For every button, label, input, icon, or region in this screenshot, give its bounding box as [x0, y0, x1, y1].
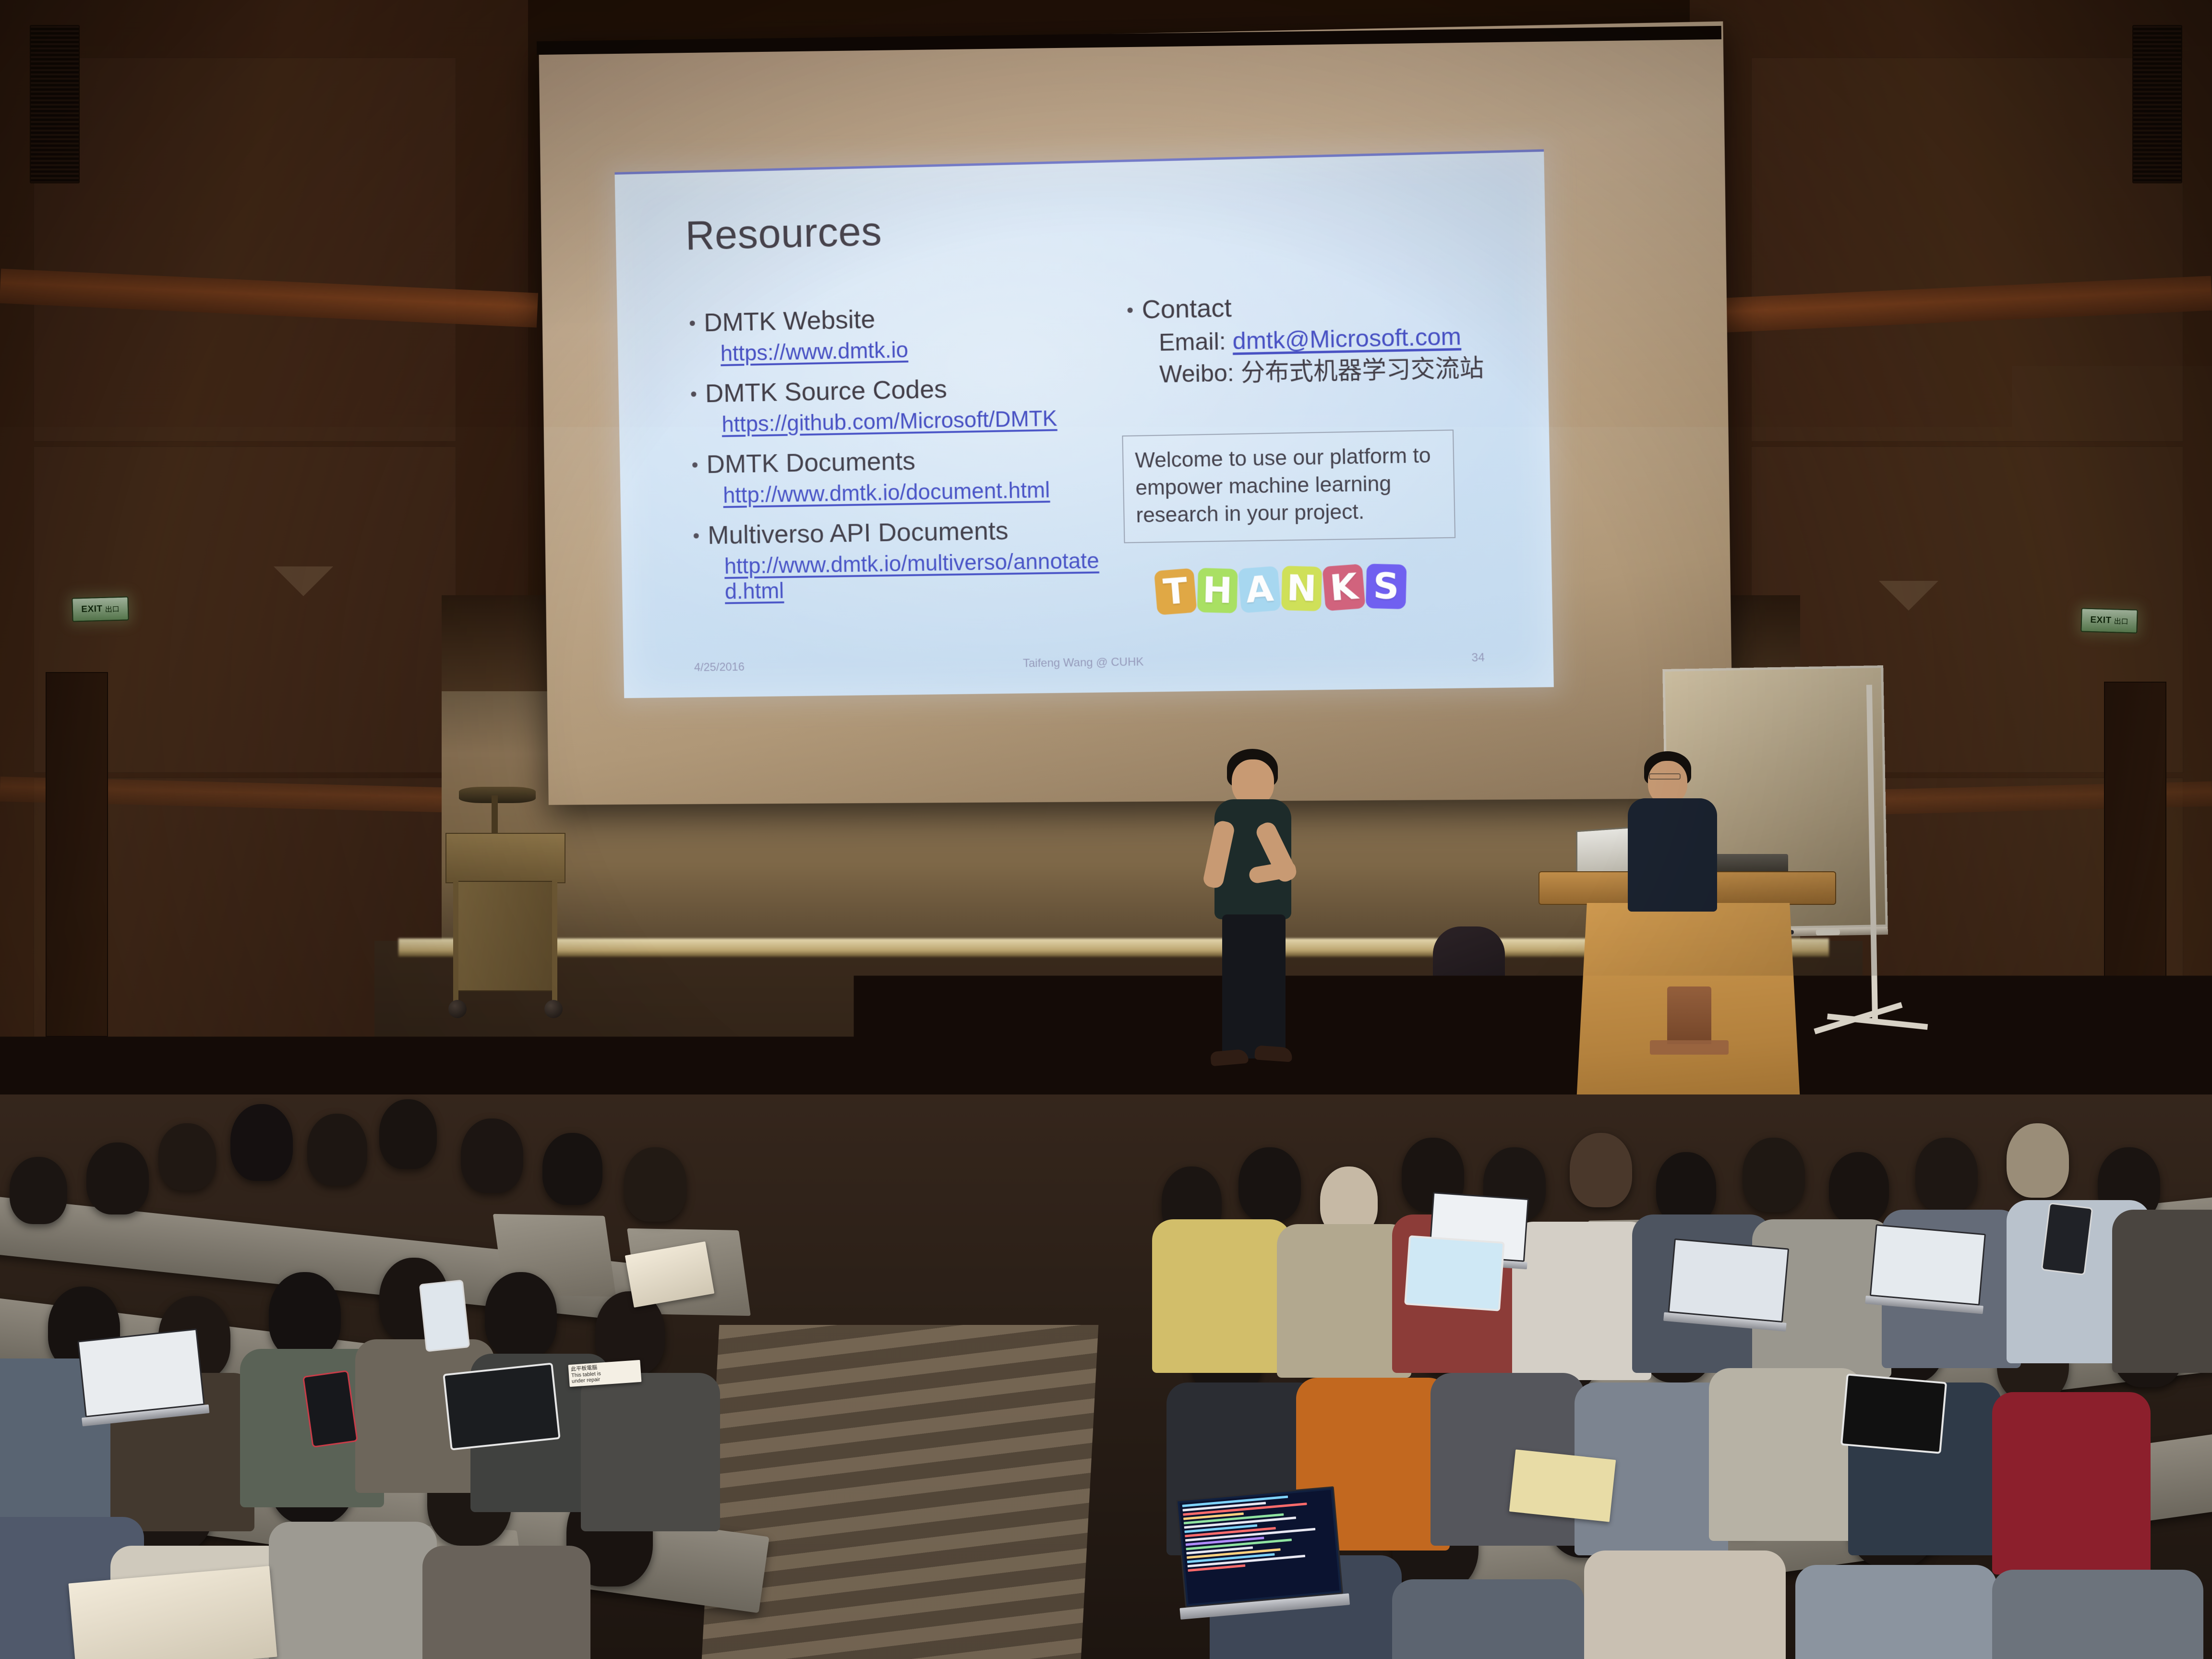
av-cart-caster-right: [544, 1000, 563, 1018]
audience-head-l1: [10, 1157, 67, 1224]
audience-body-r19: [1584, 1551, 1786, 1659]
audience-head-r11: [2007, 1123, 2069, 1198]
wall-panel-right-1: [1751, 58, 2183, 442]
ventilation-grille-left: [30, 25, 80, 183]
slide-footer-page-number: 34: [1471, 651, 1485, 665]
door-right[interactable]: [2104, 682, 2166, 1046]
audience-head-l8: [542, 1133, 602, 1205]
audience-body-r9: [2112, 1210, 2212, 1373]
audience-head-l14: [485, 1272, 557, 1358]
audience-head-l3: [158, 1123, 216, 1190]
audience-tablet-1[interactable]: [443, 1362, 560, 1450]
laptop-1-screen: [77, 1328, 204, 1417]
av-cart-shelf: [454, 881, 557, 991]
cuhk-crest-icon: [1667, 986, 1711, 1044]
av-cart-leg-right: [552, 881, 557, 1001]
thanks-letter-t: T: [1154, 568, 1197, 615]
audience-body-r2: [1277, 1224, 1411, 1378]
audience-head-l2: [86, 1142, 149, 1214]
slide-email-label: Email:: [1159, 327, 1226, 356]
slide-bullet-multiverso-api-documents: Multiverso API Documents: [687, 514, 1116, 552]
audience-laptop-1[interactable]: [77, 1328, 205, 1427]
podium-presenter-head: [1648, 761, 1687, 804]
audience-head-r7: [1656, 1152, 1716, 1224]
slide-note-line-2: empower machine learning: [1135, 469, 1442, 502]
center-staircase: [702, 1325, 1099, 1659]
thanks-letter-h: H: [1197, 568, 1238, 613]
presenter-head: [1232, 759, 1274, 805]
slide-note-line-3: research in your project.: [1136, 497, 1443, 529]
slide-note-line-1: Welcome to use our platform to: [1135, 442, 1442, 475]
laptop-4-screen: [1870, 1224, 1986, 1305]
exit-sign-left-text: EXIT: [81, 604, 103, 615]
audience-head-r2: [1238, 1147, 1301, 1222]
audience-body-l6: [581, 1373, 720, 1531]
slide-bullet-dmtk-website: DMTK Website: [683, 300, 1112, 339]
slide-email-value[interactable]: dmtk@Microsoft.com: [1232, 323, 1461, 354]
audience-paper-3: [1509, 1449, 1616, 1522]
audience-tablet-2[interactable]: [1404, 1235, 1505, 1311]
thanks-letter-a: A: [1238, 566, 1281, 613]
audience-head-l4: [230, 1104, 293, 1181]
audience-body-r20: [1795, 1565, 1997, 1659]
wall-panel-left-1: [34, 58, 456, 442]
slide-weibo-row: Weibo: 分布式机器学习交流站: [1159, 353, 1511, 389]
slide-left-column: DMTK Website https://www.dmtk.io DMTK So…: [683, 300, 1117, 617]
slide-footer-date: 4/25/2016: [694, 661, 745, 674]
audience-laptop-4[interactable]: [1869, 1224, 1986, 1315]
lecture-hall-photo: EXIT 出口 EXIT 出口 Resources DMTK Website h…: [0, 0, 2212, 1659]
thanks-letter-n: N: [1281, 566, 1322, 612]
exit-sign-right: EXIT 出口: [2080, 608, 2138, 633]
audience-body-r16: [1992, 1392, 2151, 1575]
ventilation-grille-right: [2132, 25, 2182, 183]
exit-sign-left: EXIT 出口: [72, 596, 129, 622]
audience-body-l9: [269, 1522, 437, 1659]
standing-presenter: [1205, 749, 1310, 1075]
podium-presenter: [1625, 751, 1721, 910]
slide-link-dmtk-website[interactable]: https://www.dmtk.io: [720, 333, 1112, 366]
podium-presenter-torso: [1628, 798, 1717, 912]
audience-head-l12: [269, 1272, 341, 1358]
projected-slide: Resources DMTK Website https://www.dmtk.…: [614, 149, 1553, 698]
presenter-legs: [1222, 914, 1286, 1058]
slide-footer-author: Taifeng Wang @ CUHK: [1023, 655, 1144, 670]
slide-bullet-dmtk-documents: DMTK Documents: [685, 443, 1114, 481]
slide-title: Resources: [685, 208, 882, 260]
av-cart[interactable]: [445, 833, 565, 1025]
slide-weibo-label: Weibo:: [1159, 359, 1235, 387]
audience-body-r4: [1512, 1222, 1651, 1380]
audience-body-l10: [422, 1546, 590, 1659]
ceiling-speaker-right: [1879, 581, 1938, 611]
audience-body-r21: [1992, 1570, 2203, 1659]
slide-link-dmtk-source-codes[interactable]: https://github.com/Microsoft/DMTK: [721, 404, 1113, 437]
door-left[interactable]: [46, 672, 108, 1037]
audience-head-l6: [379, 1099, 437, 1169]
slide-link-dmtk-documents[interactable]: http://www.dmtk.io/document.html: [723, 476, 1115, 508]
audience-body-r1: [1152, 1219, 1291, 1373]
presenter-shoe-left: [1210, 1049, 1249, 1067]
ceiling-speaker-left: [274, 566, 333, 596]
audience-body-r18: [1392, 1579, 1584, 1659]
audience-head-r8: [1743, 1138, 1805, 1212]
audience-head-l7: [461, 1118, 523, 1193]
exit-sign-right-chinese: 出口: [2114, 616, 2128, 626]
slide-bullet-dmtk-source-codes: DMTK Source Codes: [684, 371, 1113, 410]
audience-tablet-3[interactable]: [1840, 1373, 1947, 1454]
presenter-shoe-right: [1254, 1045, 1293, 1062]
audience-head-r6: [1570, 1133, 1632, 1207]
slide-bullet-contact: Contact: [1120, 287, 1509, 326]
av-cart-caster-left: [448, 1000, 467, 1018]
slide-weibo-value: 分布式机器学习交流站: [1240, 354, 1484, 386]
audience-body-r14: [1709, 1368, 1863, 1541]
audience-head-r9: [1829, 1152, 1889, 1224]
audience-head-l9: [624, 1147, 686, 1222]
glasses-icon: [1649, 773, 1681, 780]
laptop-2-code-editor: [1179, 1490, 1339, 1604]
slide-right-column: Contact Email: dmtk@Microsoft.com Weibo:…: [1120, 287, 1510, 391]
exit-sign-right-text: EXIT: [2090, 615, 2112, 626]
audience-phone-2[interactable]: [419, 1280, 470, 1352]
av-cart-leg-left: [453, 881, 458, 1001]
thanks-letter-s: S: [1366, 564, 1407, 609]
audience-laptop-2[interactable]: [1176, 1486, 1345, 1620]
audience-phone-3[interactable]: [2041, 1202, 2093, 1275]
audience-phone-1[interactable]: [302, 1370, 358, 1448]
laptop-2-screen: [1176, 1486, 1343, 1608]
slide-footer: 4/25/2016 Taifeng Wang @ CUHK 34: [624, 650, 1553, 681]
av-cart-arm: [492, 795, 498, 839]
cuhk-crest-base: [1650, 1040, 1729, 1055]
laptop-3-screen: [1668, 1238, 1790, 1322]
exit-sign-left-chinese: 出口: [105, 603, 120, 614]
audience-head-r10: [1915, 1138, 1978, 1212]
slide-note-box: Welcome to use our platform to empower m…: [1122, 430, 1455, 543]
thanks-letter-k: K: [1322, 564, 1365, 611]
thanks-graphic: T H A N K S: [1155, 564, 1407, 614]
audience-head-l5: [307, 1114, 367, 1186]
audience-laptop-3[interactable]: [1667, 1238, 1789, 1332]
slide-email-row: Email: dmtk@Microsoft.com: [1159, 321, 1510, 357]
av-cart-drawer[interactable]: [445, 833, 565, 883]
slide-link-multiverso-api-documents[interactable]: http://www.dmtk.io/multiverso/annotated.…: [724, 548, 1116, 604]
